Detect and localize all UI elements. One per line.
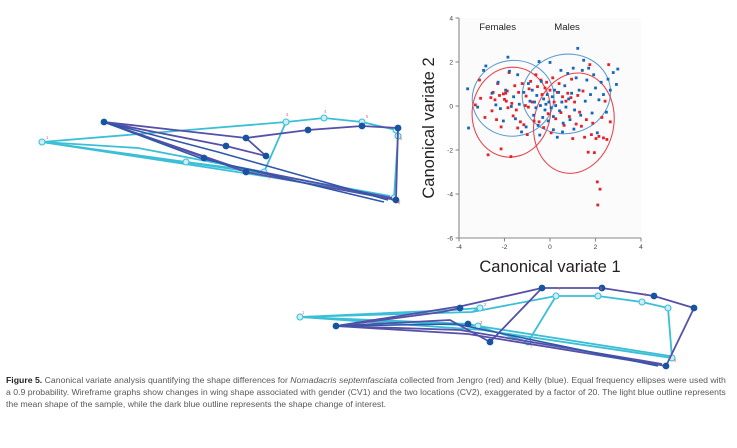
data-point bbox=[542, 126, 545, 129]
data-point bbox=[561, 131, 564, 134]
data-point bbox=[498, 94, 501, 97]
data-point bbox=[521, 82, 524, 85]
data-point bbox=[527, 106, 530, 109]
data-point bbox=[596, 131, 599, 134]
data-point bbox=[560, 69, 563, 72]
data-point bbox=[589, 93, 592, 96]
data-point bbox=[519, 120, 522, 123]
data-point bbox=[502, 120, 505, 123]
y-tick-label: -4 bbox=[447, 191, 453, 198]
svg-text:9: 9 bbox=[674, 358, 677, 363]
data-point bbox=[552, 115, 555, 118]
data-point bbox=[575, 76, 578, 79]
data-point bbox=[572, 128, 575, 131]
x-axis-title: Canonical variate 1 bbox=[479, 258, 620, 276]
data-point bbox=[549, 89, 552, 92]
data-point bbox=[517, 91, 520, 94]
data-point bbox=[542, 98, 545, 101]
canonical-variate-scatter-plot: 420-2-4-6 -4-2024 FemalesMales Canonical… bbox=[420, 2, 737, 280]
data-point bbox=[545, 103, 548, 106]
data-point bbox=[544, 109, 547, 112]
data-point bbox=[570, 78, 573, 81]
data-point bbox=[479, 97, 482, 100]
data-point bbox=[576, 94, 579, 97]
data-point bbox=[544, 87, 547, 90]
wireframe-graph-cv1: 3 4 5 6 8 7 1 bbox=[18, 100, 418, 210]
data-point bbox=[615, 83, 618, 86]
data-point bbox=[467, 127, 470, 130]
data-point bbox=[578, 111, 581, 114]
cv1-mean-shape-outline bbox=[42, 118, 398, 198]
y-tick-label: -2 bbox=[447, 147, 453, 154]
data-point bbox=[494, 104, 497, 107]
data-point bbox=[616, 68, 619, 71]
data-point bbox=[510, 102, 513, 105]
data-point bbox=[602, 93, 605, 96]
data-point bbox=[583, 136, 586, 139]
data-point bbox=[534, 73, 537, 76]
data-point bbox=[607, 63, 610, 66]
data-point bbox=[513, 84, 516, 87]
species-name: Nomadacris septemfasciata bbox=[290, 375, 397, 385]
data-point bbox=[528, 87, 531, 90]
caption-text-part1: Canonical variate analysis quantifying t… bbox=[42, 375, 290, 385]
x-tick-label: 0 bbox=[548, 244, 552, 251]
svg-text:1: 1 bbox=[302, 310, 305, 315]
data-point bbox=[540, 80, 543, 83]
data-point bbox=[591, 112, 594, 115]
y-tick-label: 0 bbox=[449, 103, 453, 110]
data-point bbox=[598, 98, 601, 101]
data-point bbox=[476, 106, 479, 109]
x-axis-ticks: -4-2024 bbox=[456, 238, 643, 251]
data-point bbox=[561, 95, 564, 98]
data-point bbox=[508, 70, 511, 73]
data-point bbox=[512, 115, 515, 118]
data-point bbox=[529, 100, 532, 103]
group-label-males: Males bbox=[554, 22, 580, 33]
data-point bbox=[566, 72, 569, 75]
data-point bbox=[536, 85, 539, 88]
data-point bbox=[526, 133, 529, 136]
data-point bbox=[562, 122, 565, 125]
data-point bbox=[466, 87, 469, 90]
data-point bbox=[497, 81, 500, 84]
data-point bbox=[590, 133, 593, 136]
data-point bbox=[520, 131, 523, 134]
svg-text:5: 5 bbox=[366, 114, 369, 119]
data-point bbox=[549, 61, 552, 64]
svg-text:6: 6 bbox=[400, 136, 403, 141]
data-point bbox=[558, 109, 561, 112]
svg-text:3: 3 bbox=[286, 112, 289, 117]
data-point bbox=[593, 151, 596, 154]
data-point bbox=[533, 120, 536, 123]
data-point bbox=[525, 126, 528, 129]
data-point bbox=[565, 100, 568, 103]
data-point bbox=[547, 101, 550, 104]
data-point bbox=[535, 94, 538, 97]
x-tick-label: -2 bbox=[502, 244, 508, 251]
data-point bbox=[538, 134, 541, 137]
data-point bbox=[507, 56, 510, 59]
data-point bbox=[565, 106, 568, 109]
data-point bbox=[558, 82, 561, 85]
data-point bbox=[560, 101, 563, 104]
data-point bbox=[579, 114, 582, 117]
data-point bbox=[524, 104, 527, 107]
data-point bbox=[598, 135, 601, 138]
data-point bbox=[587, 151, 590, 154]
data-point bbox=[547, 112, 550, 115]
y-axis-ticks: 420-2-4-6 bbox=[447, 15, 459, 242]
data-point bbox=[539, 104, 542, 107]
data-point bbox=[500, 148, 503, 151]
data-point bbox=[552, 128, 555, 131]
x-tick-label: -4 bbox=[456, 244, 462, 251]
data-point bbox=[494, 98, 497, 101]
data-point bbox=[510, 105, 513, 108]
data-point bbox=[588, 63, 591, 66]
data-point bbox=[545, 81, 548, 84]
data-point bbox=[580, 125, 583, 128]
data-point bbox=[537, 124, 540, 127]
data-point bbox=[591, 122, 594, 125]
data-point bbox=[491, 92, 494, 95]
data-point bbox=[533, 101, 536, 104]
data-point bbox=[563, 84, 566, 87]
data-point bbox=[553, 101, 556, 104]
data-point bbox=[570, 92, 573, 95]
cv2-shape-change-outline-secondary bbox=[336, 324, 658, 366]
group-label-females: Females bbox=[479, 22, 516, 33]
data-point bbox=[500, 126, 503, 129]
data-point bbox=[581, 69, 584, 72]
data-point bbox=[582, 59, 585, 62]
data-point bbox=[571, 137, 574, 140]
data-point bbox=[538, 60, 541, 63]
data-point bbox=[522, 91, 525, 94]
wireframe-cv2-svg: 1 2 4 5 6 3 7 9 bbox=[282, 272, 702, 382]
data-point bbox=[595, 137, 598, 140]
data-point bbox=[527, 82, 530, 85]
data-point bbox=[541, 93, 544, 96]
data-point bbox=[550, 131, 553, 134]
data-point bbox=[484, 116, 487, 119]
data-point bbox=[573, 101, 576, 104]
data-point bbox=[582, 90, 585, 93]
data-point bbox=[507, 106, 510, 109]
data-point bbox=[556, 136, 559, 139]
data-point bbox=[518, 103, 521, 106]
data-point bbox=[568, 115, 571, 118]
data-point bbox=[515, 109, 518, 112]
data-point bbox=[551, 76, 554, 79]
data-point bbox=[495, 118, 498, 121]
svg-text:8: 8 bbox=[398, 200, 401, 205]
scatter-plot-panel: 420-2-4-6 -4-2024 FemalesMales Canonical… bbox=[420, 2, 737, 280]
y-tick-label: -6 bbox=[447, 235, 453, 242]
data-point bbox=[550, 106, 553, 109]
data-point bbox=[567, 98, 570, 101]
figure-caption: Figure 5. Canonical variate analysis qua… bbox=[6, 374, 731, 410]
svg-text:4: 4 bbox=[324, 109, 327, 114]
data-point bbox=[587, 67, 590, 70]
data-point bbox=[604, 100, 607, 103]
data-point bbox=[605, 111, 608, 114]
data-point bbox=[504, 89, 507, 92]
data-point bbox=[609, 89, 612, 92]
data-point bbox=[531, 89, 534, 92]
data-point bbox=[541, 116, 544, 119]
data-point bbox=[547, 120, 550, 123]
data-point bbox=[482, 69, 485, 72]
figure-label: Figure 5. bbox=[6, 375, 42, 385]
data-point bbox=[572, 67, 575, 70]
data-point bbox=[499, 107, 502, 110]
data-point bbox=[609, 120, 612, 123]
data-point bbox=[489, 96, 492, 99]
data-point bbox=[584, 100, 587, 103]
x-tick-label: 4 bbox=[639, 244, 643, 251]
data-point bbox=[546, 93, 549, 96]
y-tick-label: 4 bbox=[449, 15, 453, 22]
data-point bbox=[592, 73, 595, 76]
data-point bbox=[599, 188, 602, 191]
data-point bbox=[505, 100, 508, 103]
wireframe-cv1-svg: 3 4 5 6 8 7 1 bbox=[18, 100, 418, 210]
y-tick-label: 2 bbox=[449, 59, 453, 66]
data-point bbox=[600, 116, 603, 119]
data-point bbox=[600, 81, 603, 84]
data-point bbox=[516, 127, 519, 130]
data-point bbox=[491, 109, 494, 112]
data-point bbox=[516, 73, 519, 76]
svg-text:3: 3 bbox=[480, 320, 483, 325]
data-point bbox=[602, 137, 605, 140]
data-point bbox=[575, 123, 578, 126]
data-point bbox=[585, 79, 588, 82]
data-point bbox=[557, 91, 560, 94]
data-point bbox=[509, 155, 512, 158]
data-point bbox=[534, 106, 537, 109]
data-point bbox=[576, 47, 579, 50]
data-point bbox=[578, 89, 581, 92]
svg-text:1: 1 bbox=[46, 135, 49, 140]
data-point bbox=[551, 95, 554, 98]
data-point bbox=[512, 95, 515, 98]
x-tick-label: 2 bbox=[594, 244, 598, 251]
data-point bbox=[554, 104, 557, 107]
data-point bbox=[596, 204, 599, 207]
svg-text:2: 2 bbox=[484, 302, 487, 307]
data-point bbox=[525, 95, 528, 98]
data-point bbox=[553, 89, 556, 92]
data-point bbox=[487, 153, 490, 156]
data-point bbox=[594, 87, 597, 90]
data-point bbox=[596, 181, 599, 184]
figure-root: 3 4 5 6 8 7 1 bbox=[0, 0, 737, 448]
data-point bbox=[573, 109, 576, 112]
wireframe-graph-cv2: 1 2 4 5 6 3 7 9 bbox=[282, 272, 702, 382]
data-point bbox=[585, 118, 588, 121]
data-point bbox=[607, 78, 610, 81]
data-point bbox=[566, 92, 569, 95]
data-point bbox=[612, 71, 615, 74]
data-point bbox=[484, 65, 487, 68]
y-axis-title: Canonical variate 2 bbox=[420, 57, 438, 198]
data-point bbox=[514, 117, 517, 120]
data-point bbox=[569, 118, 572, 121]
data-point bbox=[478, 79, 481, 82]
data-point bbox=[538, 120, 541, 123]
data-point bbox=[605, 138, 608, 141]
data-point bbox=[532, 114, 535, 117]
